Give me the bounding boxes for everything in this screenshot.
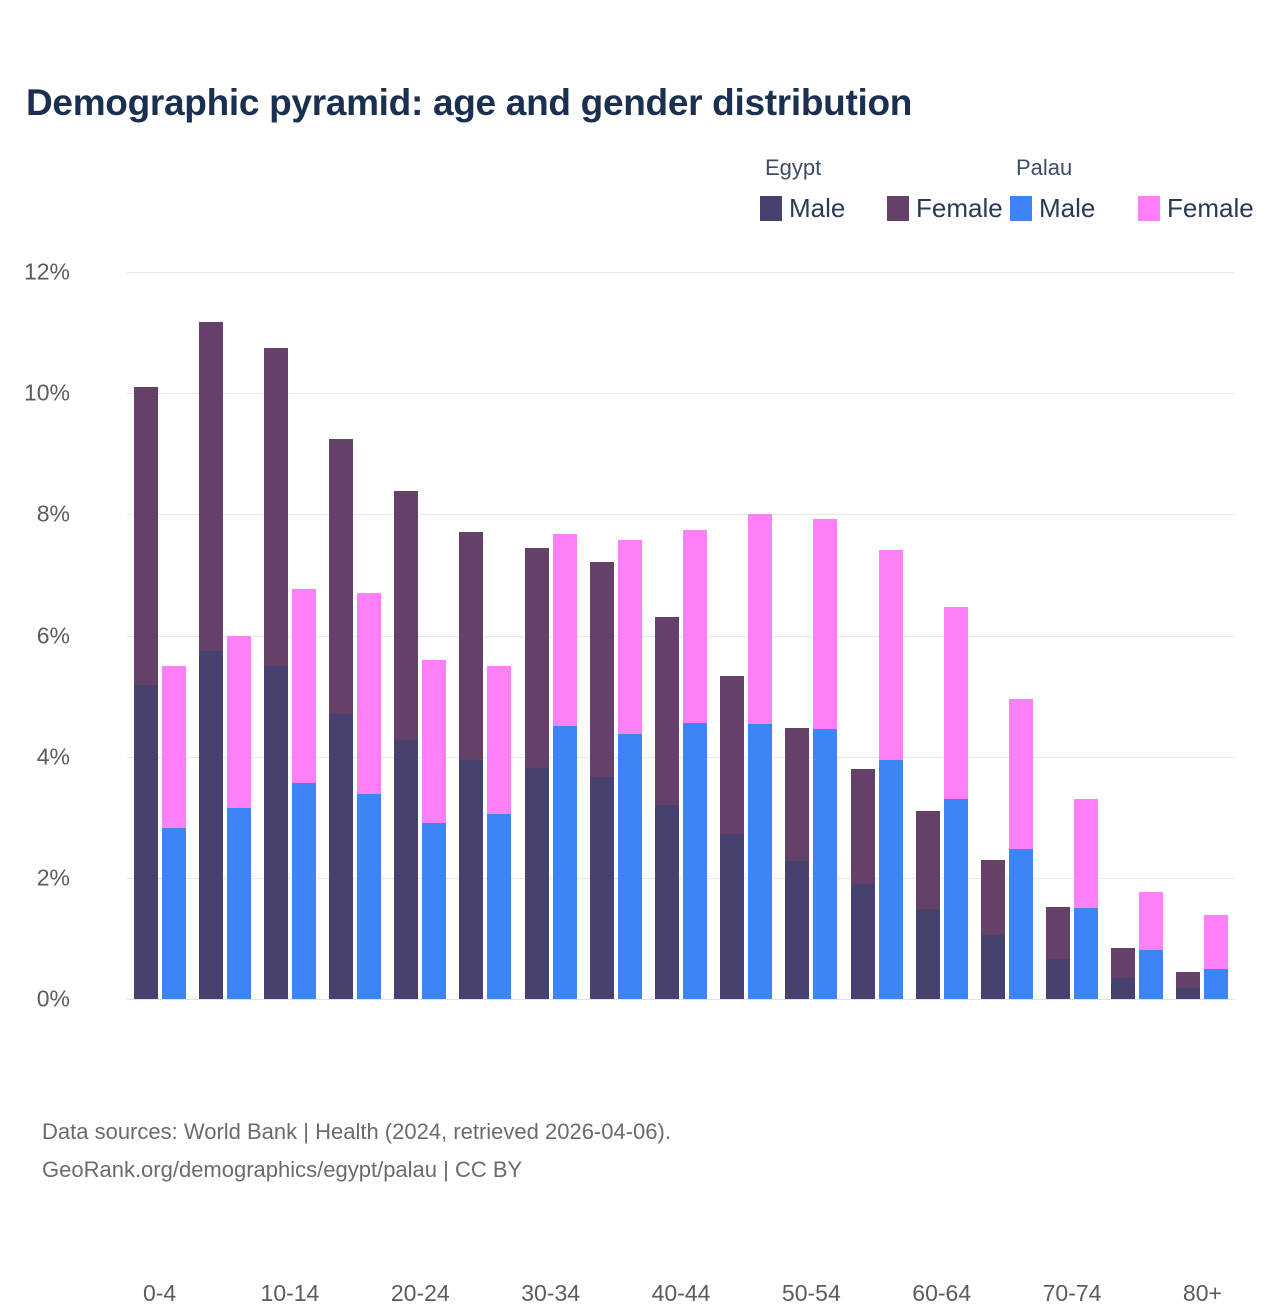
bar-group bbox=[785, 272, 837, 999]
legend-swatch-egypt-male bbox=[760, 196, 782, 221]
bar-palau-female-segment[interactable] bbox=[1204, 915, 1228, 970]
bar-egypt-female-segment[interactable] bbox=[329, 439, 353, 713]
bar-group bbox=[394, 272, 446, 999]
x-tick-label-10-14: 10-14 bbox=[261, 1280, 320, 1307]
legend-swatch-egypt-female bbox=[887, 196, 909, 221]
footer-line-attribution: GeoRank.org/demographics/egypt/palau | C… bbox=[42, 1151, 671, 1189]
bar-palau-male-segment[interactable] bbox=[553, 726, 577, 999]
bar-group bbox=[1176, 272, 1228, 999]
bar-palau-female-segment[interactable] bbox=[292, 589, 316, 783]
bar-group bbox=[199, 272, 251, 999]
x-tick-label-60-64: 60-64 bbox=[912, 1280, 971, 1307]
y-tick-label-0%: 0% bbox=[0, 986, 70, 1013]
plot-area: 0%2%4%6%8%10%12% Share of population 0-4… bbox=[127, 272, 1235, 999]
bar-egypt-male-segment[interactable] bbox=[785, 861, 809, 999]
bar-palau-female-segment[interactable] bbox=[683, 530, 707, 724]
bar-palau-male-segment[interactable] bbox=[1204, 969, 1228, 999]
x-tick-label-70-74: 70-74 bbox=[1043, 1280, 1102, 1307]
legend-swatch-palau-male bbox=[1010, 196, 1032, 221]
bar-group bbox=[916, 272, 968, 999]
bar-egypt-male-segment[interactable] bbox=[199, 651, 223, 999]
footer-line-sources: Data sources: World Bank | Health (2024,… bbox=[42, 1113, 671, 1151]
bar-palau-male-segment[interactable] bbox=[1074, 908, 1098, 999]
bar-group bbox=[1046, 272, 1098, 999]
bar-group bbox=[1111, 272, 1163, 999]
bar-palau-female-segment[interactable] bbox=[422, 660, 446, 824]
bar-palau-female-segment[interactable] bbox=[487, 666, 511, 814]
legend-item-palau-male[interactable]: Male bbox=[1010, 195, 1095, 221]
y-tick-label-10%: 10% bbox=[0, 380, 70, 407]
bar-egypt-male-segment[interactable] bbox=[264, 666, 288, 999]
bar-palau-male-segment[interactable] bbox=[683, 723, 707, 999]
bar-egypt-male-segment[interactable] bbox=[1046, 959, 1070, 999]
bar-egypt-male-segment[interactable] bbox=[525, 768, 549, 999]
bar-egypt-female-segment[interactable] bbox=[1176, 972, 1200, 988]
bar-palau-male-segment[interactable] bbox=[1009, 849, 1033, 999]
bar-egypt-male-segment[interactable] bbox=[916, 909, 940, 999]
legend-label-palau-female: Female bbox=[1167, 195, 1254, 221]
bar-palau-male-segment[interactable] bbox=[618, 734, 642, 999]
bar-groups bbox=[127, 272, 1235, 999]
bar-palau-female-segment[interactable] bbox=[1139, 892, 1163, 950]
legend-group-egypt: Egypt bbox=[765, 155, 821, 181]
y-tick-label-4%: 4% bbox=[0, 743, 70, 770]
bar-egypt-female-segment[interactable] bbox=[1046, 907, 1070, 959]
bar-egypt-female-segment[interactable] bbox=[264, 348, 288, 665]
bar-group bbox=[655, 272, 707, 999]
bar-palau-female-segment[interactable] bbox=[1009, 699, 1033, 849]
bar-group bbox=[134, 272, 186, 999]
bar-palau-male-segment[interactable] bbox=[162, 828, 186, 999]
bar-group bbox=[264, 272, 316, 999]
legend-label-egypt-female: Female bbox=[916, 195, 1003, 221]
legend-label-palau-male: Male bbox=[1039, 195, 1095, 221]
bar-egypt-female-segment[interactable] bbox=[655, 617, 679, 804]
bar-palau-male-segment[interactable] bbox=[292, 783, 316, 999]
bar-egypt-female-segment[interactable] bbox=[525, 548, 549, 769]
bar-egypt-female-segment[interactable] bbox=[720, 676, 744, 835]
x-tick-label-80+: 80+ bbox=[1183, 1280, 1222, 1307]
legend-label-egypt-male: Male bbox=[789, 195, 845, 221]
bar-egypt-male-segment[interactable] bbox=[1176, 988, 1200, 999]
bar-palau-male-segment[interactable] bbox=[748, 724, 772, 999]
bar-egypt-male-segment[interactable] bbox=[329, 714, 353, 999]
bar-egypt-female-segment[interactable] bbox=[590, 562, 614, 778]
y-tick-label-6%: 6% bbox=[0, 622, 70, 649]
bar-egypt-male-segment[interactable] bbox=[720, 834, 744, 999]
x-tick-label-30-34: 30-34 bbox=[521, 1280, 580, 1307]
bar-egypt-male-segment[interactable] bbox=[590, 777, 614, 999]
chart-title: Demographic pyramid: age and gender dist… bbox=[26, 82, 912, 124]
bar-palau-female-segment[interactable] bbox=[618, 540, 642, 734]
bar-palau-male-segment[interactable] bbox=[487, 814, 511, 999]
y-tick-label-2%: 2% bbox=[0, 864, 70, 891]
y-tick-label-8%: 8% bbox=[0, 501, 70, 528]
bar-palau-male-segment[interactable] bbox=[227, 808, 251, 999]
bar-palau-male-segment[interactable] bbox=[422, 823, 446, 999]
bar-egypt-female-segment[interactable] bbox=[199, 322, 223, 652]
legend-item-egypt-male[interactable]: Male bbox=[760, 195, 845, 221]
bar-group bbox=[329, 272, 381, 999]
bar-palau-female-segment[interactable] bbox=[748, 514, 772, 724]
bar-palau-female-segment[interactable] bbox=[227, 636, 251, 809]
bar-palau-female-segment[interactable] bbox=[553, 534, 577, 726]
bar-group bbox=[720, 272, 772, 999]
x-tick-label-0-4: 0-4 bbox=[143, 1280, 176, 1307]
bar-group bbox=[851, 272, 903, 999]
legend-group-palau: Palau bbox=[1016, 155, 1072, 181]
bar-palau-male-segment[interactable] bbox=[944, 799, 968, 999]
bar-egypt-female-segment[interactable] bbox=[1111, 948, 1135, 978]
bar-egypt-male-segment[interactable] bbox=[851, 884, 875, 999]
bar-palau-male-segment[interactable] bbox=[1139, 950, 1163, 999]
bar-palau-female-segment[interactable] bbox=[357, 593, 381, 795]
legend-swatch-palau-female bbox=[1138, 196, 1160, 221]
gridline-0 bbox=[127, 999, 1235, 1000]
bar-egypt-male-segment[interactable] bbox=[459, 760, 483, 999]
bar-egypt-female-segment[interactable] bbox=[394, 491, 418, 740]
bar-egypt-female-segment[interactable] bbox=[134, 387, 158, 685]
legend-item-palau-female[interactable]: Female bbox=[1138, 195, 1254, 221]
x-tick-label-50-54: 50-54 bbox=[782, 1280, 841, 1307]
bar-egypt-female-segment[interactable] bbox=[981, 860, 1005, 935]
footer: Data sources: World Bank | Health (2024,… bbox=[42, 1113, 671, 1189]
bar-palau-female-segment[interactable] bbox=[162, 666, 186, 828]
x-tick-label-40-44: 40-44 bbox=[652, 1280, 711, 1307]
bar-egypt-male-segment[interactable] bbox=[655, 805, 679, 999]
bar-egypt-male-segment[interactable] bbox=[394, 740, 418, 999]
bar-palau-male-segment[interactable] bbox=[813, 729, 837, 999]
bar-palau-male-segment[interactable] bbox=[357, 794, 381, 999]
bar-egypt-female-segment[interactable] bbox=[916, 811, 940, 909]
bar-egypt-male-segment[interactable] bbox=[981, 935, 1005, 999]
bar-group bbox=[525, 272, 577, 999]
legend-item-egypt-female[interactable]: Female bbox=[887, 195, 1003, 221]
bar-egypt-female-segment[interactable] bbox=[785, 728, 809, 862]
bar-egypt-female-segment[interactable] bbox=[459, 532, 483, 760]
bar-palau-female-segment[interactable] bbox=[944, 607, 968, 799]
bar-palau-female-segment[interactable] bbox=[1074, 799, 1098, 907]
y-tick-label-12%: 12% bbox=[0, 259, 70, 286]
x-tick-label-20-24: 20-24 bbox=[391, 1280, 450, 1307]
chart-root: Demographic pyramid: age and gender dist… bbox=[0, 0, 1280, 1280]
bar-palau-female-segment[interactable] bbox=[813, 519, 837, 729]
bar-group bbox=[459, 272, 511, 999]
bar-group bbox=[590, 272, 642, 999]
bar-egypt-male-segment[interactable] bbox=[1111, 978, 1135, 999]
bar-egypt-male-segment[interactable] bbox=[134, 685, 158, 999]
bar-group bbox=[981, 272, 1033, 999]
chart-legend: Egypt Palau Male Female Male Female bbox=[760, 155, 1260, 235]
bar-egypt-female-segment[interactable] bbox=[851, 769, 875, 884]
bar-palau-male-segment[interactable] bbox=[879, 760, 903, 999]
bar-palau-female-segment[interactable] bbox=[879, 550, 903, 760]
